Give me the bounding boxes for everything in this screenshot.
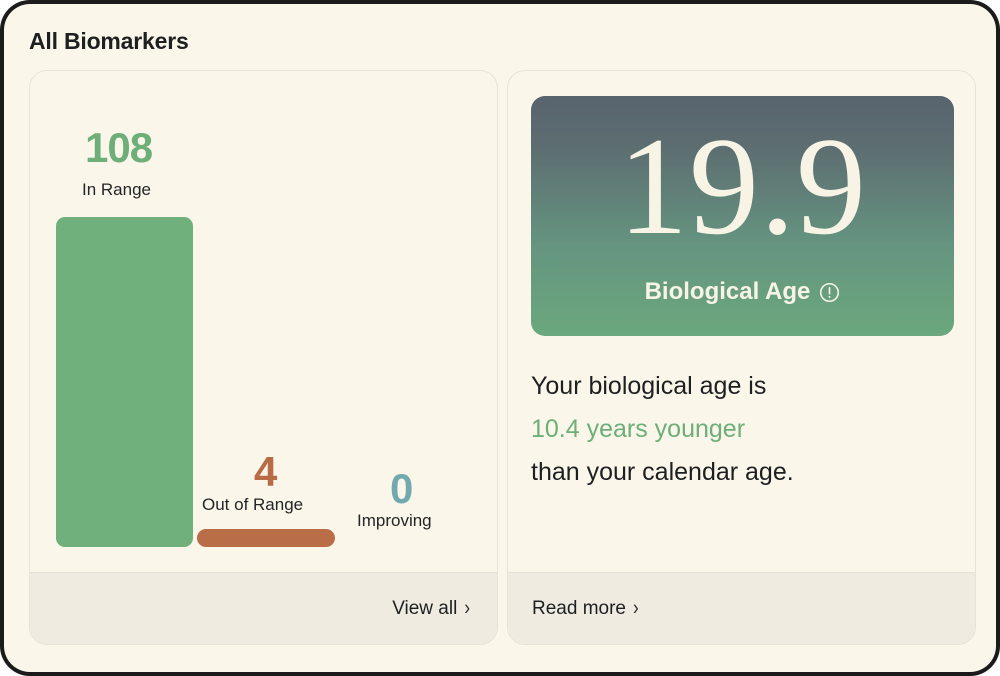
- biomarkers-card: 108 In Range 4 Out of Range 0 Improving: [29, 70, 498, 645]
- device-frame: All Biomarkers 108 In Range 4 Out of Ran…: [0, 0, 1000, 676]
- biomarkers-bar-chart: 108 In Range 4 Out of Range 0 Improving: [30, 71, 498, 574]
- biological-age-caption-label: Biological Age: [645, 278, 811, 306]
- improving-value: 0: [390, 468, 412, 510]
- read-more-label: Read more: [532, 598, 626, 620]
- chevron-right-icon: ›: [633, 597, 639, 618]
- biomarkers-card-body: 108 In Range 4 Out of Range 0 Improving: [30, 71, 497, 574]
- exclamation-circle-icon[interactable]: [819, 282, 840, 303]
- biomarkers-card-footer: View all ›: [30, 572, 497, 644]
- biological-age-caption: Biological Age: [531, 278, 954, 306]
- message-line-3: than your calendar age.: [531, 451, 931, 494]
- view-all-label: View all: [392, 598, 457, 620]
- biological-age-card-body: 19.9 Biological Age Your biolo: [508, 71, 975, 574]
- out-of-range-value: 4: [254, 451, 276, 493]
- in-range-value: 108: [85, 127, 152, 169]
- out-of-range-label: Out of Range: [202, 496, 303, 513]
- in-range-bar[interactable]: [56, 217, 193, 547]
- in-range-label: In Range: [82, 181, 151, 198]
- biological-age-card-footer: Read more ›: [508, 572, 975, 644]
- chevron-right-icon: ›: [464, 597, 470, 618]
- screen: All Biomarkers 108 In Range 4 Out of Ran…: [4, 4, 996, 672]
- biological-age-message: Your biological age is 10.4 years younge…: [531, 365, 931, 494]
- improving-label: Improving: [357, 512, 432, 529]
- message-line-2-highlight: 10.4 years younger: [531, 408, 931, 451]
- message-line-1: Your biological age is: [531, 365, 931, 408]
- read-more-link[interactable]: Read more ›: [532, 598, 639, 620]
- biological-age-card: 19.9 Biological Age Your biolo: [507, 70, 976, 645]
- biological-age-value: 19.9: [531, 106, 954, 267]
- page-title: All Biomarkers: [29, 28, 189, 55]
- out-of-range-bar[interactable]: [197, 529, 335, 547]
- biological-age-tile[interactable]: 19.9 Biological Age: [531, 96, 954, 336]
- view-all-link[interactable]: View all ›: [392, 598, 470, 620]
